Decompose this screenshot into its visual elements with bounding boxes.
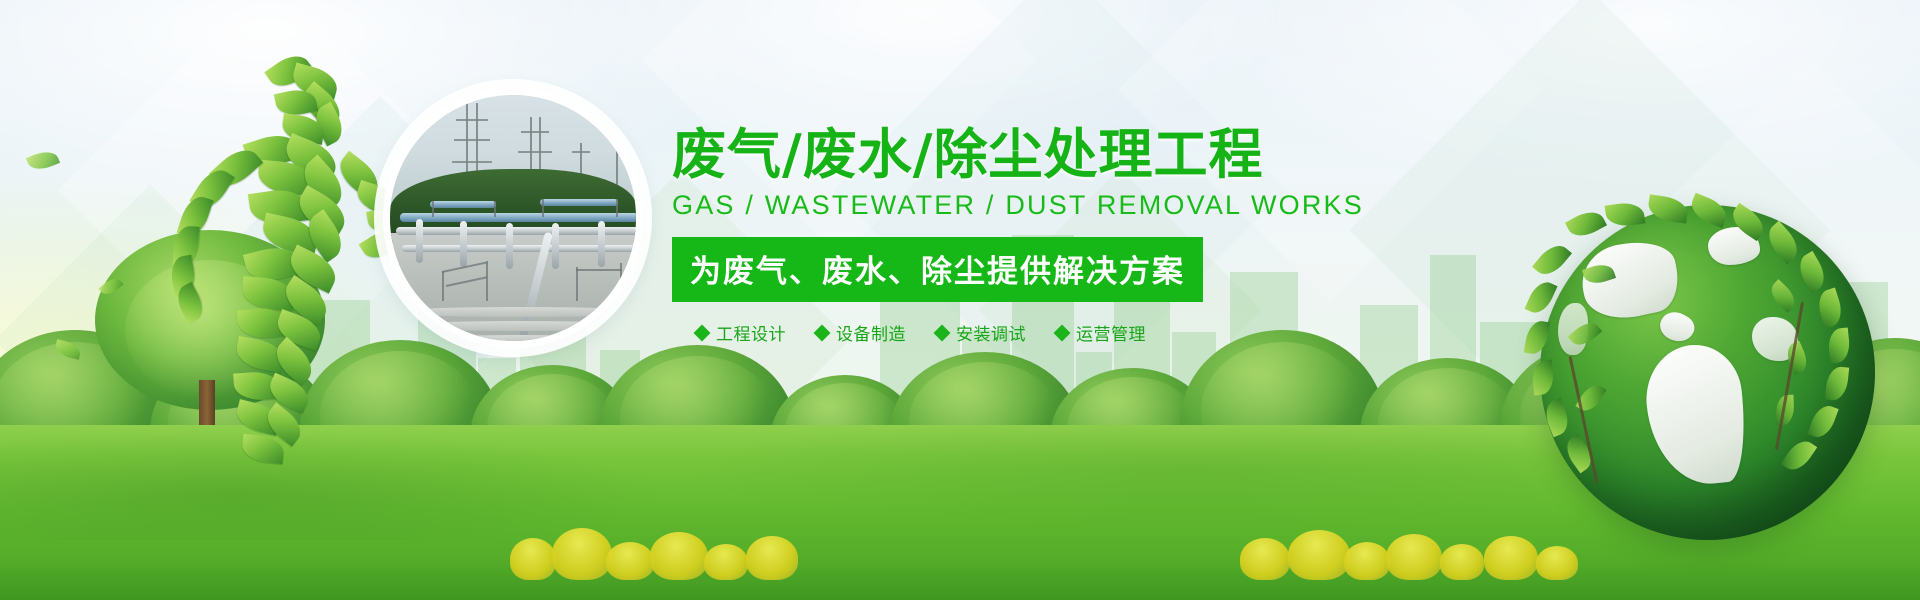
feature-item[interactable]: 运营管理 <box>1056 320 1146 345</box>
slogan-text: 为废气、废水、除尘提供解决方案 <box>690 254 1185 290</box>
diamond-icon <box>1054 324 1071 341</box>
eco-engineering-banner: 废气/废水/除尘处理工程 GAS / WASTEWATER / DUST REM… <box>0 0 1920 600</box>
feature-label: 运营管理 <box>1076 320 1146 345</box>
circle-photo-frame <box>383 88 643 348</box>
page-title: 废气/废水/除尘处理工程 <box>672 126 1312 184</box>
feature-label: 安装调试 <box>956 320 1026 345</box>
slogan-bar: 为废气、废水、除尘提供解决方案 <box>672 237 1203 302</box>
feature-label: 设备制造 <box>836 320 906 345</box>
feature-item[interactable]: 工程设计 <box>696 320 786 345</box>
continent-central-america <box>1655 307 1698 348</box>
green-leaf-globe <box>1540 205 1875 540</box>
feature-item[interactable]: 安装调试 <box>936 320 1026 345</box>
wastewater-treatment-plant-photo <box>390 95 636 341</box>
globe-sphere <box>1540 205 1875 540</box>
leaf-man-figure <box>150 50 410 470</box>
feature-item[interactable]: 设备制造 <box>816 320 906 345</box>
feature-label: 工程设计 <box>716 320 786 345</box>
diamond-icon <box>814 324 831 341</box>
page-subtitle: GAS / WASTEWATER / DUST REMOVAL WORKS <box>672 190 1312 221</box>
feature-list: 工程设计 设备制造 安装调试 运营管理 <box>672 320 1312 345</box>
continent-south-america <box>1641 340 1751 489</box>
diamond-icon <box>934 324 951 341</box>
banner-text-block: 废气/废水/除尘处理工程 GAS / WASTEWATER / DUST REM… <box>672 126 1312 345</box>
diamond-icon <box>694 324 711 341</box>
